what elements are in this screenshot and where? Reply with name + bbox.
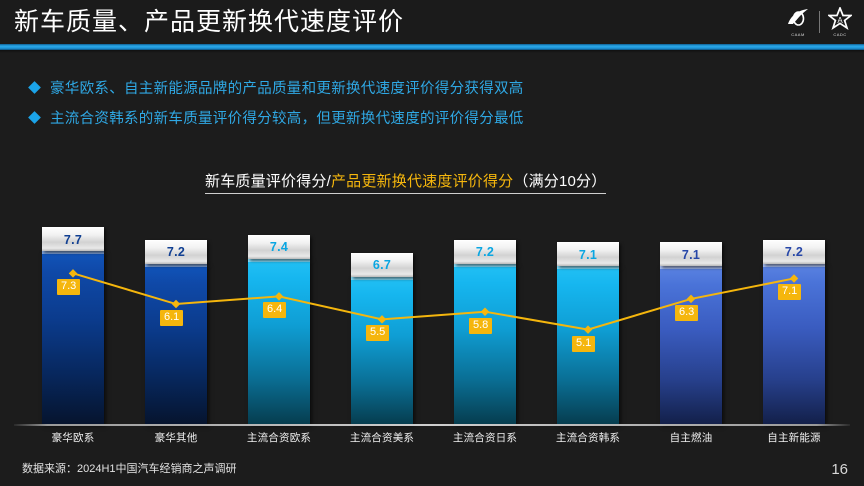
cadc-logo-caption: CADC [833, 32, 846, 37]
caam-logo: CAAM [785, 7, 811, 37]
line-value-label: 6.1 [160, 310, 183, 326]
cadc-logo: A CADC [828, 7, 852, 37]
line-marker[interactable] [584, 325, 592, 333]
chart-title-part2: （满分10分） [513, 173, 606, 190]
line-series [0, 205, 864, 427]
chart-title-highlight: 产品更新换代速度评价得分 [331, 173, 513, 190]
bullet-text: 主流合资韩系的新车质量评价得分较高，但更新换代速度的评价得分最低 [50, 107, 524, 128]
logo-group: CAAM A CADC [785, 7, 852, 37]
chart-title-part1: 新车质量评价得分/ [205, 173, 331, 190]
slide-root: 新车质量、产品更新换代速度评价 CAAM A CADC [0, 0, 864, 486]
x-axis-label: 豪华欧系 [20, 430, 126, 445]
x-axis-line [14, 424, 850, 426]
bullet-list: 豪华欧系、自主新能源品牌的产品质量和更新换代速度评价得分获得双高 主流合资韩系的… [30, 72, 750, 132]
data-source-note: 数据来源：2024H1中国汽车经销商之声调研 [22, 460, 237, 476]
list-item: 豪华欧系、自主新能源品牌的产品质量和更新换代速度评价得分获得双高 [30, 72, 750, 102]
line-value-label: 7.1 [778, 284, 801, 300]
diamond-bullet-icon [28, 81, 41, 94]
x-axis-label: 自主新能源 [741, 430, 847, 445]
chart-title: 新车质量评价得分/产品更新换代速度评价得分（满分10分） [205, 170, 606, 194]
header-divider-shadow [0, 50, 864, 53]
line-value-label: 5.8 [469, 318, 492, 334]
page-title: 新车质量、产品更新换代速度评价 [14, 4, 404, 40]
svg-text:A: A [837, 16, 843, 25]
line-value-label: 5.1 [572, 336, 595, 352]
line-marker[interactable] [172, 300, 180, 308]
line-value-label: 6.4 [263, 302, 286, 318]
caam-logo-caption: CAAM [791, 32, 805, 37]
line-marker[interactable] [275, 292, 283, 300]
x-axis-label: 主流合资美系 [329, 430, 435, 445]
x-axis-label: 主流合资欧系 [226, 430, 332, 445]
line-marker[interactable] [790, 274, 798, 282]
x-axis-label: 自主燃油 [638, 430, 744, 445]
x-axis-label: 主流合资日系 [432, 430, 538, 445]
slide-header: 新车质量、产品更新换代速度评价 CAAM A CADC [0, 0, 864, 44]
line-marker[interactable] [687, 295, 695, 303]
x-axis-labels: 豪华欧系豪华其他主流合资欧系主流合资美系主流合资日系主流合资韩系自主燃油自主新能… [0, 430, 864, 448]
line-value-label: 6.3 [675, 305, 698, 321]
page-number: 16 [831, 461, 848, 478]
line-marker[interactable] [481, 307, 489, 315]
line-marker[interactable] [378, 315, 386, 323]
line-value-label: 7.3 [57, 279, 80, 295]
x-axis-label: 豪华其他 [123, 430, 229, 445]
x-axis-label: 主流合资韩系 [535, 430, 641, 445]
diamond-bullet-icon [28, 111, 41, 124]
line-value-label: 5.5 [366, 325, 389, 341]
bullet-text: 豪华欧系、自主新能源品牌的产品质量和更新换代速度评价得分获得双高 [50, 77, 524, 98]
line-marker[interactable] [69, 269, 77, 277]
list-item: 主流合资韩系的新车质量评价得分较高，但更新换代速度的评价得分最低 [30, 102, 750, 132]
logo-separator [819, 11, 820, 33]
chart-plot-area: 7.77.27.46.77.27.17.17.2 7.36.16.45.55.8… [0, 205, 864, 427]
